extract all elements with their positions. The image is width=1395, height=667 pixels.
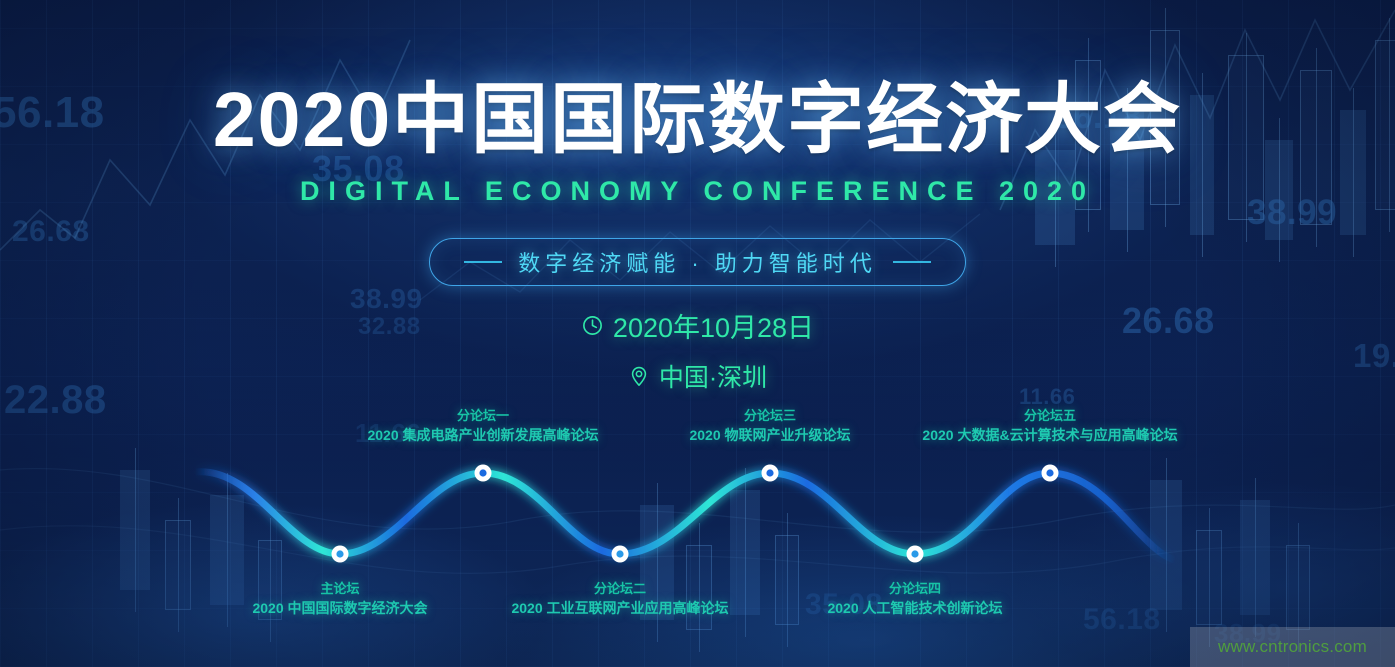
clock-icon (581, 314, 604, 337)
banner-subtitle: DIGITAL ECONOMY CONFERENCE 2020 (0, 176, 1395, 207)
forum-label-5[interactable]: 分论坛四2020 人工智能技术创新论坛 (715, 580, 1115, 618)
forum-label-6[interactable]: 分论坛五2020 大数据&云计算技术与应用高峰论坛 (850, 407, 1250, 445)
forum-node-center[interactable] (911, 550, 918, 557)
slogan-container: 数字经济赋能 · 助力智能时代 (0, 238, 1395, 286)
map-pin-icon (628, 365, 650, 387)
slogan-text: 数字经济赋能 · 助力智能时代 (518, 246, 877, 278)
forum-name-text: 2020 人工智能技术创新论坛 (715, 598, 1115, 618)
event-date-text: 2020年10月28日 (613, 306, 814, 345)
dash-right-icon (893, 261, 931, 263)
forum-index-text: 分论坛五 (850, 407, 1250, 425)
forum-name-text: 2020 大数据&云计算技术与应用高峰论坛 (850, 425, 1250, 445)
forum-index-text: 分论坛四 (715, 580, 1115, 598)
event-date-row: 2020年10月28日 (0, 306, 1395, 345)
forum-node-center[interactable] (336, 550, 343, 557)
slogan-pill: 数字经济赋能 · 助力智能时代 (429, 238, 966, 286)
event-location-row: 中国·深圳 (0, 358, 1395, 394)
conference-banner: 56.1826.6822.8835.0838.9932.8856.1838.99… (0, 0, 1395, 667)
banner-title: 2020中国国际数字经济大会 (0, 78, 1395, 162)
forum-node-center[interactable] (766, 469, 773, 476)
dash-left-icon (464, 261, 502, 263)
event-location-text: 中国·深圳 (659, 358, 767, 394)
watermark-text: www.cntronics.com (1218, 637, 1367, 657)
forum-node-center[interactable] (1046, 469, 1053, 476)
site-watermark: www.cntronics.com (1190, 627, 1395, 667)
forum-node-center[interactable] (479, 469, 486, 476)
forum-node-center[interactable] (616, 550, 623, 557)
